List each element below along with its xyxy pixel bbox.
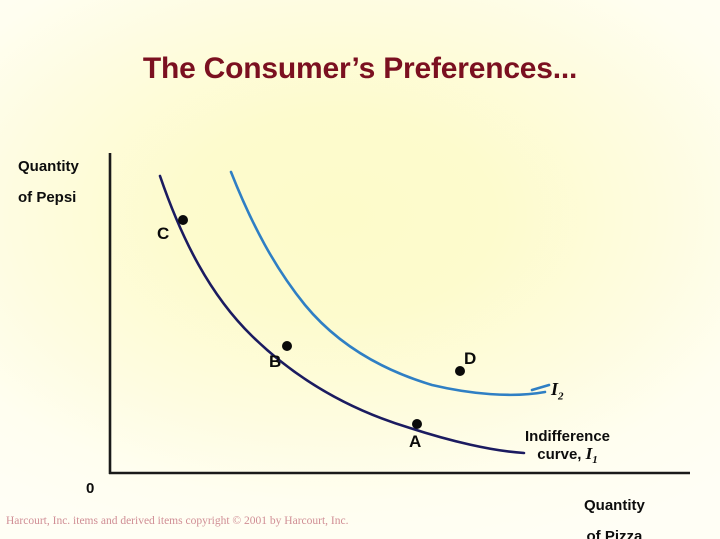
data-point-C xyxy=(178,215,188,225)
data-point-A xyxy=(412,419,422,429)
y-axis-label-line2: of Pepsi xyxy=(18,189,76,206)
point-label-b: B xyxy=(269,352,281,372)
y-axis-label-line1: Quantity xyxy=(18,158,79,175)
indifference-curve-i1-label-line1: Indifference xyxy=(525,428,610,445)
indifference-curve-i2-subscript: 2 xyxy=(558,391,564,403)
indifference-curve-i2-symbol: I xyxy=(551,379,558,399)
i2-leader-line xyxy=(532,385,549,390)
point-label-d: D xyxy=(464,349,476,369)
point-label-a: A xyxy=(409,432,421,452)
x-axis-label: Quantity of Pizza xyxy=(584,482,645,539)
indifference-curve-plot xyxy=(0,0,720,539)
x-axis-label-line2: of Pizza xyxy=(587,528,643,539)
origin-label: 0 xyxy=(86,480,94,497)
point-label-c: C xyxy=(157,224,169,244)
copyright-footer: Harcourt, Inc. items and derived items c… xyxy=(6,515,348,527)
data-point-B xyxy=(282,341,292,351)
indifference-curve-i1-label-line2: curve, xyxy=(537,446,585,463)
indifference-curve-i2-label: I2 xyxy=(551,379,564,403)
slide-canvas: The Consumer’s Preferences... Quantity o… xyxy=(0,0,720,539)
indifference-curve-i1-subscript: 1 xyxy=(592,454,598,466)
x-axis-label-line1: Quantity xyxy=(584,497,645,514)
indifference-curve-i1 xyxy=(160,176,524,453)
y-axis-label: Quantity of Pepsi xyxy=(18,143,79,206)
indifference-curve-i1-label: Indifference curve, I1 xyxy=(525,429,610,467)
